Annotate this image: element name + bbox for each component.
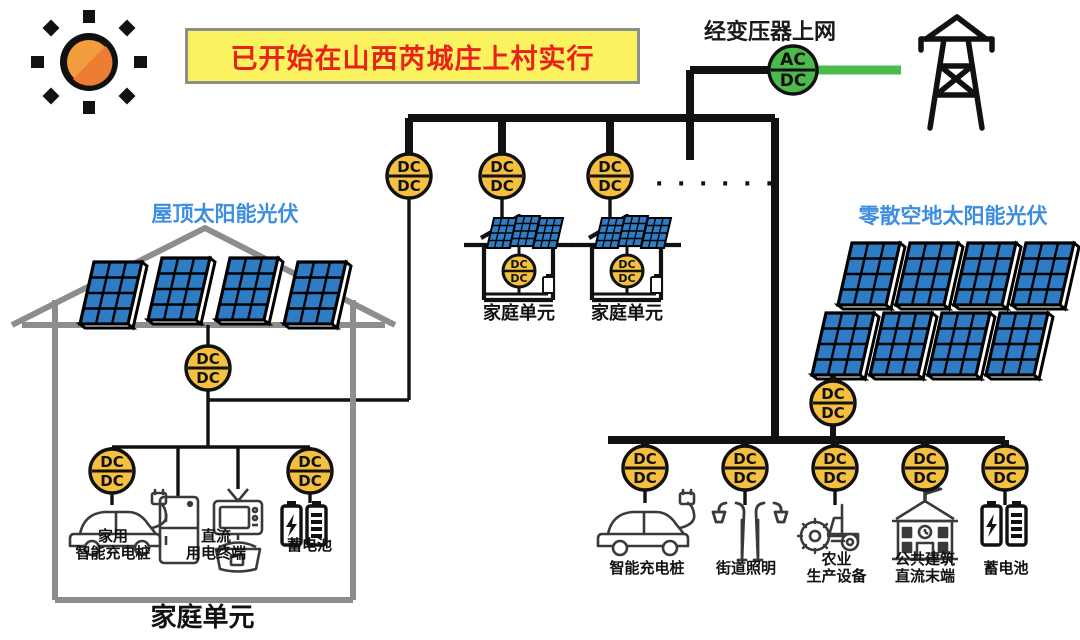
rooftop-pv-label: 屋顶太阳能光伏 <box>110 203 340 227</box>
dc-dc-converter-icon[interactable]: DC DC <box>503 255 535 287</box>
battery-icon-village <box>982 501 1026 545</box>
dc-dc-converter-icon[interactable]: DC DC <box>480 154 524 198</box>
ac-dc-top-label: AC <box>780 50 806 70</box>
ac-dc-converter-icon[interactable]: AC DC <box>769 46 817 94</box>
svg-text:DC: DC <box>490 177 513 195</box>
svg-text:DC: DC <box>490 158 513 176</box>
svg-text:DC: DC <box>913 450 936 468</box>
svg-text:DC: DC <box>100 472 123 490</box>
svg-text:DC: DC <box>298 472 321 490</box>
svg-text:DC: DC <box>821 404 844 422</box>
village-load-label-battery: 蓄电池 <box>960 560 1052 577</box>
open-land-pv-label: 零散空地太阳能光伏 <box>828 205 1078 229</box>
svg-text:DC: DC <box>733 469 756 487</box>
dc-dc-converter-icon[interactable]: DC DC <box>903 446 947 490</box>
agriculture-equipment-icon <box>798 505 858 553</box>
svg-text:DC: DC <box>510 258 527 271</box>
grid-export-label: 经变压器上网 <box>704 14 836 46</box>
svg-text:DC: DC <box>598 177 621 195</box>
svg-text:DC: DC <box>733 450 756 468</box>
public-building-icon <box>892 486 958 559</box>
svg-text:DC: DC <box>397 158 420 176</box>
svg-text:DC: DC <box>397 177 420 195</box>
dc-dc-converter-icon[interactable]: DC DC <box>983 446 1027 490</box>
dc-dc-converter-icon[interactable]: DC DC <box>387 154 431 198</box>
village-load-wiring <box>608 376 1005 505</box>
home-load-label-dc-appliances: 直流 用电终端 <box>160 528 272 562</box>
transmission-tower-icon <box>921 17 992 128</box>
dc-dc-converter-icon[interactable]: DC DC <box>288 449 332 493</box>
mini-battery-icon-2 <box>651 274 662 293</box>
dc-dc-converter-icon[interactable]: DC DC <box>723 446 767 490</box>
mini-home-unit-label-1: 家庭单元 <box>464 304 574 324</box>
svg-text:DC: DC <box>618 272 635 285</box>
diagram-canvas: 已开始在山西芮城庄上村实行 <box>0 0 1080 640</box>
dc-dc-converter-icon[interactable]: DC DC <box>588 154 632 198</box>
svg-text:DC: DC <box>100 453 123 471</box>
svg-text:DC: DC <box>823 469 846 487</box>
mini-pv-array-2 <box>595 216 671 248</box>
rooftop-pv-array <box>80 258 351 328</box>
svg-text:DC: DC <box>993 469 1016 487</box>
dc-dc-converter-icon[interactable]: DC DC <box>811 381 855 425</box>
svg-text:DC: DC <box>618 258 635 271</box>
village-load-label-agriculture: 农业 生产设备 <box>789 551 884 585</box>
dc-dc-converter-icon[interactable]: DC DC <box>813 446 857 490</box>
svg-text:DC: DC <box>633 450 656 468</box>
mini-home-unit-label-2: 家庭单元 <box>572 304 682 324</box>
svg-text:DC: DC <box>196 350 219 368</box>
ac-dc-bottom-label: DC <box>780 71 807 91</box>
village-load-label-street-lighting: 街道照明 <box>695 560 797 577</box>
dc-bus-wiring <box>208 70 781 440</box>
svg-text:DC: DC <box>821 385 844 403</box>
street-lighting-icon <box>713 503 787 560</box>
open-land-pv-array <box>812 243 1079 379</box>
svg-text:DC: DC <box>633 469 656 487</box>
svg-text:DC: DC <box>823 450 846 468</box>
svg-text:DC: DC <box>196 369 219 387</box>
svg-text:DC: DC <box>598 158 621 176</box>
home-load-label-ev-charger: 家用 智能充电桩 <box>57 528 169 562</box>
svg-text:DC: DC <box>298 453 321 471</box>
svg-text:DC: DC <box>913 469 936 487</box>
mini-pv-array-1 <box>487 216 563 248</box>
dc-dc-converter-icon[interactable]: DC DC <box>186 346 230 390</box>
dc-dc-converter-icon[interactable]: DC DC <box>611 255 643 287</box>
dc-dc-converter-icon[interactable]: DC DC <box>90 449 134 493</box>
village-load-label-ev-charger: 智能充电桩 <box>592 560 702 577</box>
dc-dc-converter-icon[interactable]: DC DC <box>623 446 667 490</box>
ellipsis-indicator: · · · · · · <box>655 172 776 197</box>
home-load-label-battery: 蓄电池 <box>262 537 357 554</box>
svg-text:DC: DC <box>510 272 527 285</box>
svg-text:DC: DC <box>993 450 1016 468</box>
mini-battery-icon-1 <box>543 274 554 293</box>
home-unit-title: 家庭单元 <box>110 604 295 633</box>
sun-icon <box>31 10 147 114</box>
